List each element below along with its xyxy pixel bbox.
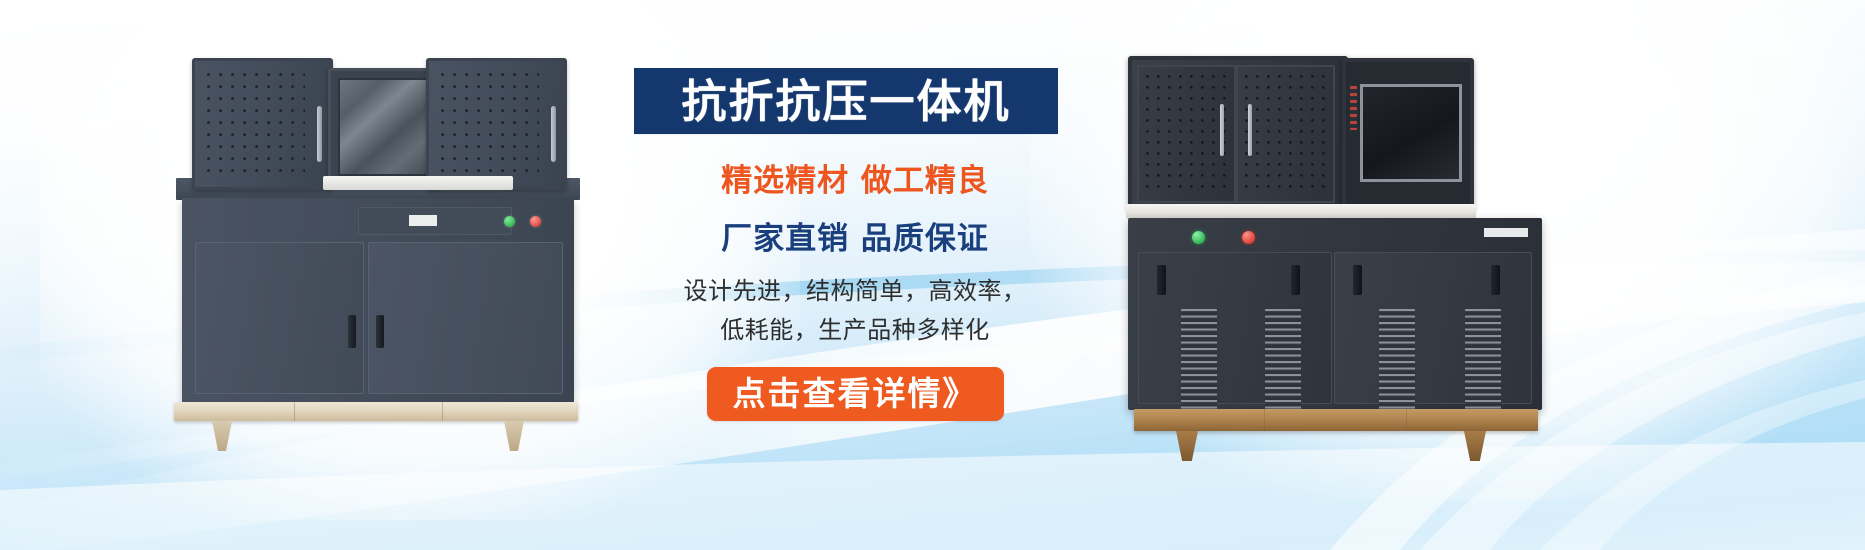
- right-machine-door-left: [1138, 252, 1332, 404]
- description-block: 设计先进，结构简单，高效率， 低耗能，生产品种多样化: [620, 272, 1090, 350]
- door-handle: [1291, 265, 1300, 295]
- door-handle: [1157, 265, 1166, 295]
- page-title: 抗折抗压一体机: [681, 79, 1010, 124]
- tray-label-plate: [409, 215, 437, 226]
- cabinet-handle: [317, 106, 322, 162]
- right-machine-door-right: [1334, 252, 1532, 404]
- left-machine-perforated-cabinet-left: [192, 58, 333, 190]
- left-machine-door-right: [368, 242, 563, 394]
- left-machine-wood-pallet: [174, 402, 578, 421]
- left-machine-monitor: [328, 68, 442, 186]
- door-handle: [1491, 265, 1500, 295]
- right-machine-wood-pallet: [1134, 409, 1538, 431]
- cta-container: 点击查看详情》: [620, 367, 1090, 421]
- banner-copy-block: 抗折抗压一体机 精选精材 做工精良 厂家直销 品质保证 设计先进，结构简单，高效…: [620, 68, 1090, 421]
- right-machine-perforated-cabinet: [1128, 56, 1348, 212]
- perforated-panel: [440, 72, 539, 176]
- left-machine-control-tray: [358, 207, 512, 235]
- subtitle-blue: 厂家直销 品质保证: [620, 213, 1090, 258]
- power-off-indicator-icon: [530, 216, 541, 227]
- promo-banner: 抗折抗压一体机 精选精材 做工精良 厂家直销 品质保证 设计先进，结构简单，高效…: [0, 0, 1865, 550]
- power-off-indicator-icon: [1242, 231, 1255, 244]
- left-machine-white-trim: [323, 176, 513, 190]
- ventilation-louvers: [1465, 309, 1501, 413]
- description-line-2: 低耗能，生产品种多样化: [620, 311, 1090, 350]
- right-machine-monitor: [1342, 58, 1474, 212]
- indicator-led-strip-icon: [1350, 86, 1357, 130]
- description-line-1: 设计先进，结构简单，高效率，: [620, 272, 1090, 311]
- door-handle: [1353, 265, 1362, 295]
- monitor-screen: [338, 78, 432, 176]
- power-on-indicator-icon: [1192, 231, 1205, 244]
- subtitle-orange: 精选精材 做工精良: [620, 155, 1090, 200]
- right-machine-label-plate: [1484, 228, 1528, 237]
- ventilation-louvers: [1181, 309, 1217, 413]
- right-machine-base-cabinet: [1128, 218, 1542, 410]
- door-handle: [348, 315, 356, 348]
- left-machine-base-cabinet: [182, 198, 574, 403]
- cabinet-handle: [551, 106, 556, 162]
- cabinet-handle: [1220, 104, 1224, 156]
- cabinet-handle: [1248, 104, 1252, 156]
- perforated-panel: [206, 72, 305, 176]
- ventilation-louvers: [1379, 309, 1415, 413]
- product-photo-left: [168, 50, 588, 435]
- monitor-screen: [1360, 84, 1462, 182]
- door-handle: [376, 315, 384, 348]
- right-machine-white-trim: [1126, 204, 1476, 219]
- product-photo-right: [1120, 48, 1560, 438]
- banner-title-bar: 抗折抗压一体机: [634, 68, 1058, 134]
- perforated-panel: [1244, 74, 1327, 194]
- left-machine-perforated-cabinet-right: [426, 58, 567, 190]
- perforated-panel: [1145, 74, 1228, 194]
- view-details-button[interactable]: 点击查看详情》: [707, 367, 1004, 421]
- power-on-indicator-icon: [504, 216, 515, 227]
- ventilation-louvers: [1265, 309, 1301, 413]
- left-machine-door-left: [195, 242, 364, 394]
